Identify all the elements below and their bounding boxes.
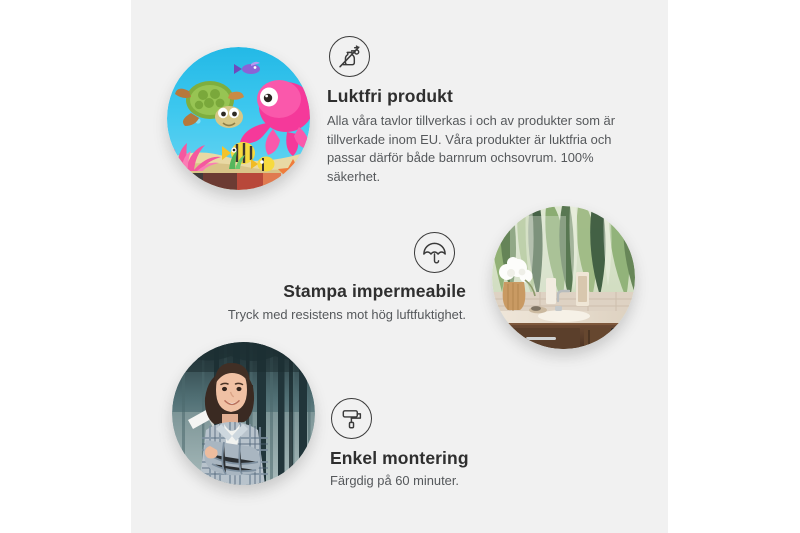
- feature-easy-mounting: Enkel montering Färgdig på 60 minuter.: [330, 398, 610, 491]
- feature-title: Enkel montering: [330, 448, 610, 469]
- no-odour-spray-bottle-icon: [329, 36, 370, 77]
- underwater-cartoon-mural-thumbnail[interactable]: [167, 47, 310, 190]
- woman-with-paint-roller-forest-thumbnail[interactable]: [172, 342, 315, 485]
- feature-odour-free: Luktfri produkt Alla våra tavlor tillver…: [327, 36, 627, 186]
- feature-description: Tryck med resistens mot hög luftfuktighe…: [200, 306, 466, 325]
- umbrella-icon: [414, 232, 455, 273]
- bathroom-vanity-tropical-wallpaper-thumbnail[interactable]: [492, 206, 635, 349]
- feature-description: Alla våra tavlor tillverkas i och av pro…: [327, 112, 623, 186]
- feature-title: Stampa impermeabile: [200, 281, 466, 302]
- feature-waterproof-print: Stampa impermeabile Tryck med resistens …: [200, 232, 468, 325]
- feature-title: Luktfri produkt: [327, 86, 627, 107]
- paint-roller-icon: [331, 398, 372, 439]
- feature-description: Färgdig på 60 minuter.: [330, 472, 610, 491]
- product-feature-infographic: Luktfri produkt Alla våra tavlor tillver…: [0, 0, 800, 533]
